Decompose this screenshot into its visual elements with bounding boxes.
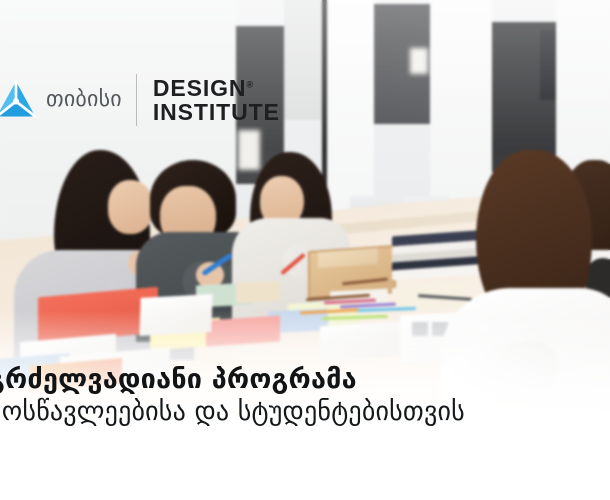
design-word: DESIGN	[153, 75, 247, 101]
design-institute-line-2: INSTITUTE	[153, 100, 280, 124]
caption-headline: გრძელვადიანი პროგრამა	[0, 365, 465, 395]
tbc-wordmark: თიბისი	[46, 89, 122, 111]
design-institute-wordmark: DESIGN® INSTITUTE	[153, 76, 280, 125]
logo-divider	[136, 74, 137, 126]
promo-banner: თიბისი DESIGN® INSTITUTE გრძელვადიანი პრ…	[0, 0, 610, 500]
registered-trademark-icon: ®	[246, 79, 253, 89]
caption-subline: მოსწავლეებისა და სტუდენტებისთვის	[0, 397, 465, 428]
design-institute-line-1: DESIGN®	[153, 76, 280, 100]
logo-lockup[interactable]: თიბისი DESIGN® INSTITUTE	[0, 74, 280, 126]
tbc-triangle-logo-icon	[0, 78, 38, 122]
caption-block: გრძელვადიანი პროგრამა მოსწავლეებისა და ს…	[0, 365, 465, 428]
